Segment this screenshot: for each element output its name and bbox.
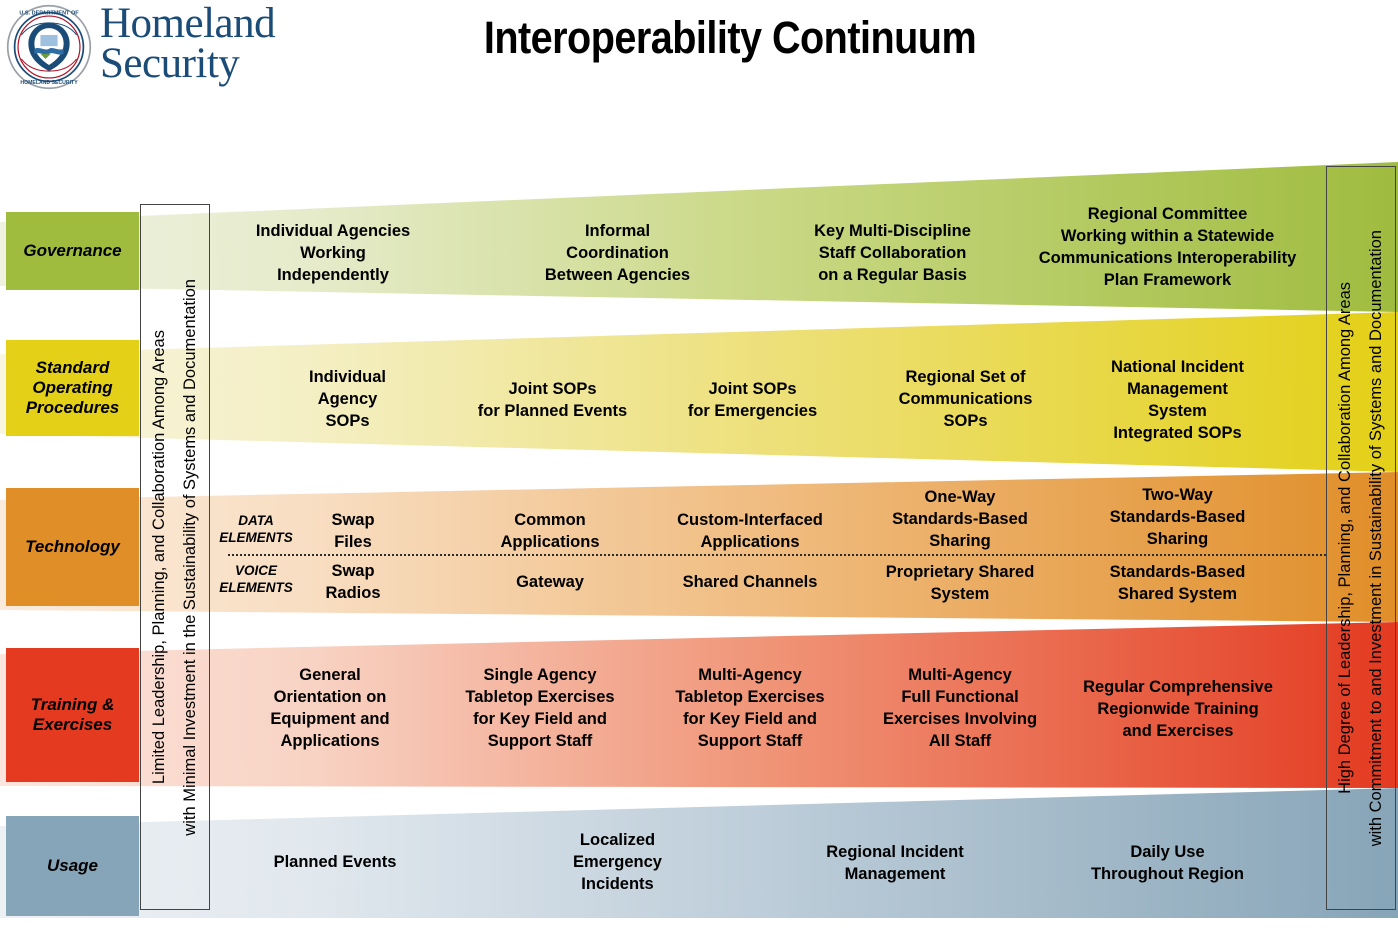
cell-line: Support Staff <box>698 730 803 752</box>
lane-label-training: Training & Exercises <box>6 648 139 782</box>
sublabel-line: ELEMENTS <box>219 530 293 547</box>
cell-technology-data-stage-3: Custom-Interfaced Applications <box>655 508 845 554</box>
cell-technology-data-stage-2: Common Applications <box>455 508 645 554</box>
cell-line: National Incident <box>1111 356 1244 378</box>
cell-line: Common <box>514 509 586 531</box>
cell-line: Emergency <box>573 851 662 873</box>
lane-label-training-line1: Training & <box>31 695 115 715</box>
cell-line: System <box>1148 400 1207 422</box>
cell-line: for Planned Events <box>478 400 627 422</box>
cell-line: Standards-Based <box>892 508 1028 530</box>
cell-line: Informal <box>585 220 650 242</box>
cell-line: Regionwide Training <box>1097 698 1258 720</box>
cell-line: Between Agencies <box>545 264 690 286</box>
page-header: U.S. DEPARTMENT OF HOMELAND SECURITY Hom… <box>0 0 1398 150</box>
cell-sop-stage-5: National Incident Management System Inte… <box>1080 356 1275 444</box>
cell-line: Swap <box>331 509 374 531</box>
cell-line: Tabletop Exercises <box>465 686 614 708</box>
sublabel-data-elements: DATA ELEMENTS <box>219 513 293 547</box>
cell-line: Sharing <box>929 530 990 552</box>
cell-line: Tabletop Exercises <box>675 686 824 708</box>
sublabel-line: VOICE <box>219 563 293 580</box>
cell-technology-voice-stage-5: Standards-Based Shared System <box>1080 559 1275 607</box>
svg-text:U.S. DEPARTMENT OF: U.S. DEPARTMENT OF <box>19 10 79 16</box>
lane-label-sop: Standard Operating Procedures <box>6 340 139 436</box>
cell-technology-data-stage-4: One-Way Standards-Based Sharing <box>865 485 1055 553</box>
lane-label-governance: Governance <box>6 212 139 290</box>
cell-line: Multi-Agency <box>698 664 802 686</box>
cell-line: One-Way <box>925 486 996 508</box>
dhs-wordmark-line2: Security <box>100 44 330 84</box>
cell-line: Orientation on <box>274 686 387 708</box>
cell-line: Regional Incident <box>826 841 964 863</box>
svg-text:HOMELAND SECURITY: HOMELAND SECURITY <box>20 80 78 86</box>
cell-line: Joint SOPs <box>508 378 596 400</box>
lane-label-technology: Technology <box>6 488 139 606</box>
cell-line: on a Regular Basis <box>818 264 967 286</box>
lane-label-usage-text: Usage <box>47 856 98 876</box>
cell-line: Exercises Involving <box>883 708 1037 730</box>
lane-label-governance-text: Governance <box>23 241 121 261</box>
cell-usage-stage-3: Regional Incident Management <box>800 840 990 886</box>
cell-usage-stage-2: Localized Emergency Incidents <box>530 828 705 896</box>
cell-line: Plan Framework <box>1104 269 1231 291</box>
cell-technology-voice-stage-4: Proprietary Shared System <box>865 559 1055 607</box>
cell-line: Working within a Statewide <box>1061 225 1274 247</box>
cell-line: Individual Agencies <box>256 220 410 242</box>
cell-line: Planned Events <box>274 851 397 873</box>
cell-line: for Key Field and <box>473 708 607 730</box>
interoperability-continuum-diagram: Governance Standard Operating Procedures… <box>0 150 1398 930</box>
cell-line: Localized <box>580 829 655 851</box>
cell-technology-voice-stage-3: Shared Channels <box>655 559 845 605</box>
cell-line: Custom-Interfaced <box>677 509 823 531</box>
cell-training-stage-3: Multi-Agency Tabletop Exercises for Key … <box>650 663 850 753</box>
cell-line: Two-Way <box>1142 484 1213 506</box>
page-title: Interoperability Continuum <box>378 12 1082 64</box>
cell-line: Communications Interoperability <box>1039 247 1297 269</box>
cell-training-stage-5: Regular Comprehensive Regionwide Trainin… <box>1058 675 1298 743</box>
cell-training-stage-4: Multi-Agency Full Functional Exercises I… <box>860 663 1060 753</box>
cell-line: Full Functional <box>901 686 1018 708</box>
left-axis-bar: Limited Leadership, Planning, and Collab… <box>140 204 210 910</box>
cell-line: Daily Use <box>1130 841 1204 863</box>
cell-line: Agency <box>318 388 378 410</box>
dhs-wordmark-line1: Homeland <box>100 4 330 44</box>
cell-line: Communications <box>899 388 1033 410</box>
cell-technology-voice-stage-1: Swap Radios <box>303 559 403 605</box>
cell-line: Applications <box>700 531 799 553</box>
cell-line: Incidents <box>581 873 653 895</box>
cell-line: Staff Collaboration <box>819 242 967 264</box>
right-axis-bar: High Degree of Leadership, Planning, and… <box>1326 166 1396 910</box>
right-axis-line1: High Degree of Leadership, Planning, and… <box>1330 282 1361 794</box>
lane-label-sop-line2: Operating <box>32 378 112 398</box>
dhs-wordmark: Homeland Security <box>100 4 330 94</box>
cell-line: Integrated SOPs <box>1113 422 1241 444</box>
cell-sop-stage-2: Joint SOPs for Planned Events <box>440 377 665 423</box>
cell-governance-stage-2: Informal Coordination Between Agencies <box>515 220 720 286</box>
cell-line: Proprietary Shared <box>886 561 1035 583</box>
data-voice-separator <box>228 554 1326 556</box>
cell-sop-stage-3: Joint SOPs for Emergencies <box>660 377 845 423</box>
cell-line: Applications <box>500 531 599 553</box>
cell-line: Regional Set of <box>905 366 1025 388</box>
lane-label-sop-line1: Standard <box>36 358 110 378</box>
cell-line: Joint SOPs <box>708 378 796 400</box>
cell-line: Shared System <box>1118 583 1237 605</box>
cell-line: Coordination <box>566 242 669 264</box>
cell-line: Support Staff <box>488 730 593 752</box>
cell-line: Single Agency <box>483 664 596 686</box>
lane-label-usage: Usage <box>6 816 139 916</box>
cell-line: Files <box>334 531 372 553</box>
cell-line: Standards-Based <box>1110 506 1246 528</box>
cell-usage-stage-1: Planned Events <box>240 850 430 874</box>
cell-line: All Staff <box>929 730 991 752</box>
cell-technology-data-stage-5: Two-Way Standards-Based Sharing <box>1080 483 1275 551</box>
cell-governance-stage-1: Individual Agencies Working Independentl… <box>228 220 438 286</box>
cell-line: Key Multi-Discipline <box>814 220 971 242</box>
cell-line: for Key Field and <box>683 708 817 730</box>
cell-line: SOPs <box>943 410 987 432</box>
lane-label-sop-line3: Procedures <box>26 398 120 418</box>
cell-line: Working <box>300 242 366 264</box>
sublabel-line: DATA <box>219 513 293 530</box>
sublabel-voice-elements: VOICE ELEMENTS <box>219 563 293 597</box>
cell-line: Applications <box>280 730 379 752</box>
lane-label-training-line2: Exercises <box>33 715 112 735</box>
cell-technology-voice-stage-2: Gateway <box>455 559 645 605</box>
cell-line: SOPs <box>325 410 369 432</box>
cell-line: for Emergencies <box>688 400 817 422</box>
lane-label-technology-text: Technology <box>25 537 120 557</box>
cell-sop-stage-4: Regional Set of Communications SOPs <box>868 366 1063 432</box>
cell-technology-data-stage-1: Swap Files <box>303 508 403 554</box>
cell-line: Management <box>845 863 946 885</box>
cell-line: Management <box>1127 378 1228 400</box>
left-axis-line2: with Minimal Investment in the Sustainab… <box>175 279 206 836</box>
cell-line: General <box>299 664 360 686</box>
cell-line: Regular Comprehensive <box>1083 676 1273 698</box>
cell-line: Sharing <box>1147 528 1208 550</box>
cell-governance-stage-4: Regional Committee Working within a Stat… <box>1025 202 1310 292</box>
cell-line: Gateway <box>516 571 584 593</box>
cell-governance-stage-3: Key Multi-Discipline Staff Collaboration… <box>790 220 995 286</box>
cell-line: Standards-Based <box>1110 561 1246 583</box>
cell-line: and Exercises <box>1123 720 1234 742</box>
cell-line: Throughout Region <box>1091 863 1244 885</box>
cell-line: Radios <box>325 582 380 604</box>
cell-line: System <box>931 583 990 605</box>
cell-line: Independently <box>277 264 389 286</box>
dhs-seal-icon: U.S. DEPARTMENT OF HOMELAND SECURITY <box>6 4 92 90</box>
cell-line: Regional Committee <box>1088 203 1248 225</box>
right-axis-line2: with Commitment to and Investment in Sus… <box>1361 230 1392 846</box>
cell-line: Shared Channels <box>683 571 818 593</box>
cell-training-stage-2: Single Agency Tabletop Exercises for Key… <box>440 663 640 753</box>
cell-line: Multi-Agency <box>908 664 1012 686</box>
cell-usage-stage-4: Daily Use Throughout Region <box>1070 840 1265 886</box>
cell-sop-stage-1: Individual Agency SOPs <box>255 366 440 432</box>
left-axis-line1: Limited Leadership, Planning, and Collab… <box>144 330 175 784</box>
cell-line: Equipment and <box>270 708 389 730</box>
cell-training-stage-1: General Orientation on Equipment and App… <box>240 663 420 753</box>
sublabel-line: ELEMENTS <box>219 580 293 597</box>
cell-line: Individual <box>309 366 386 388</box>
cell-line: Swap <box>331 560 374 582</box>
